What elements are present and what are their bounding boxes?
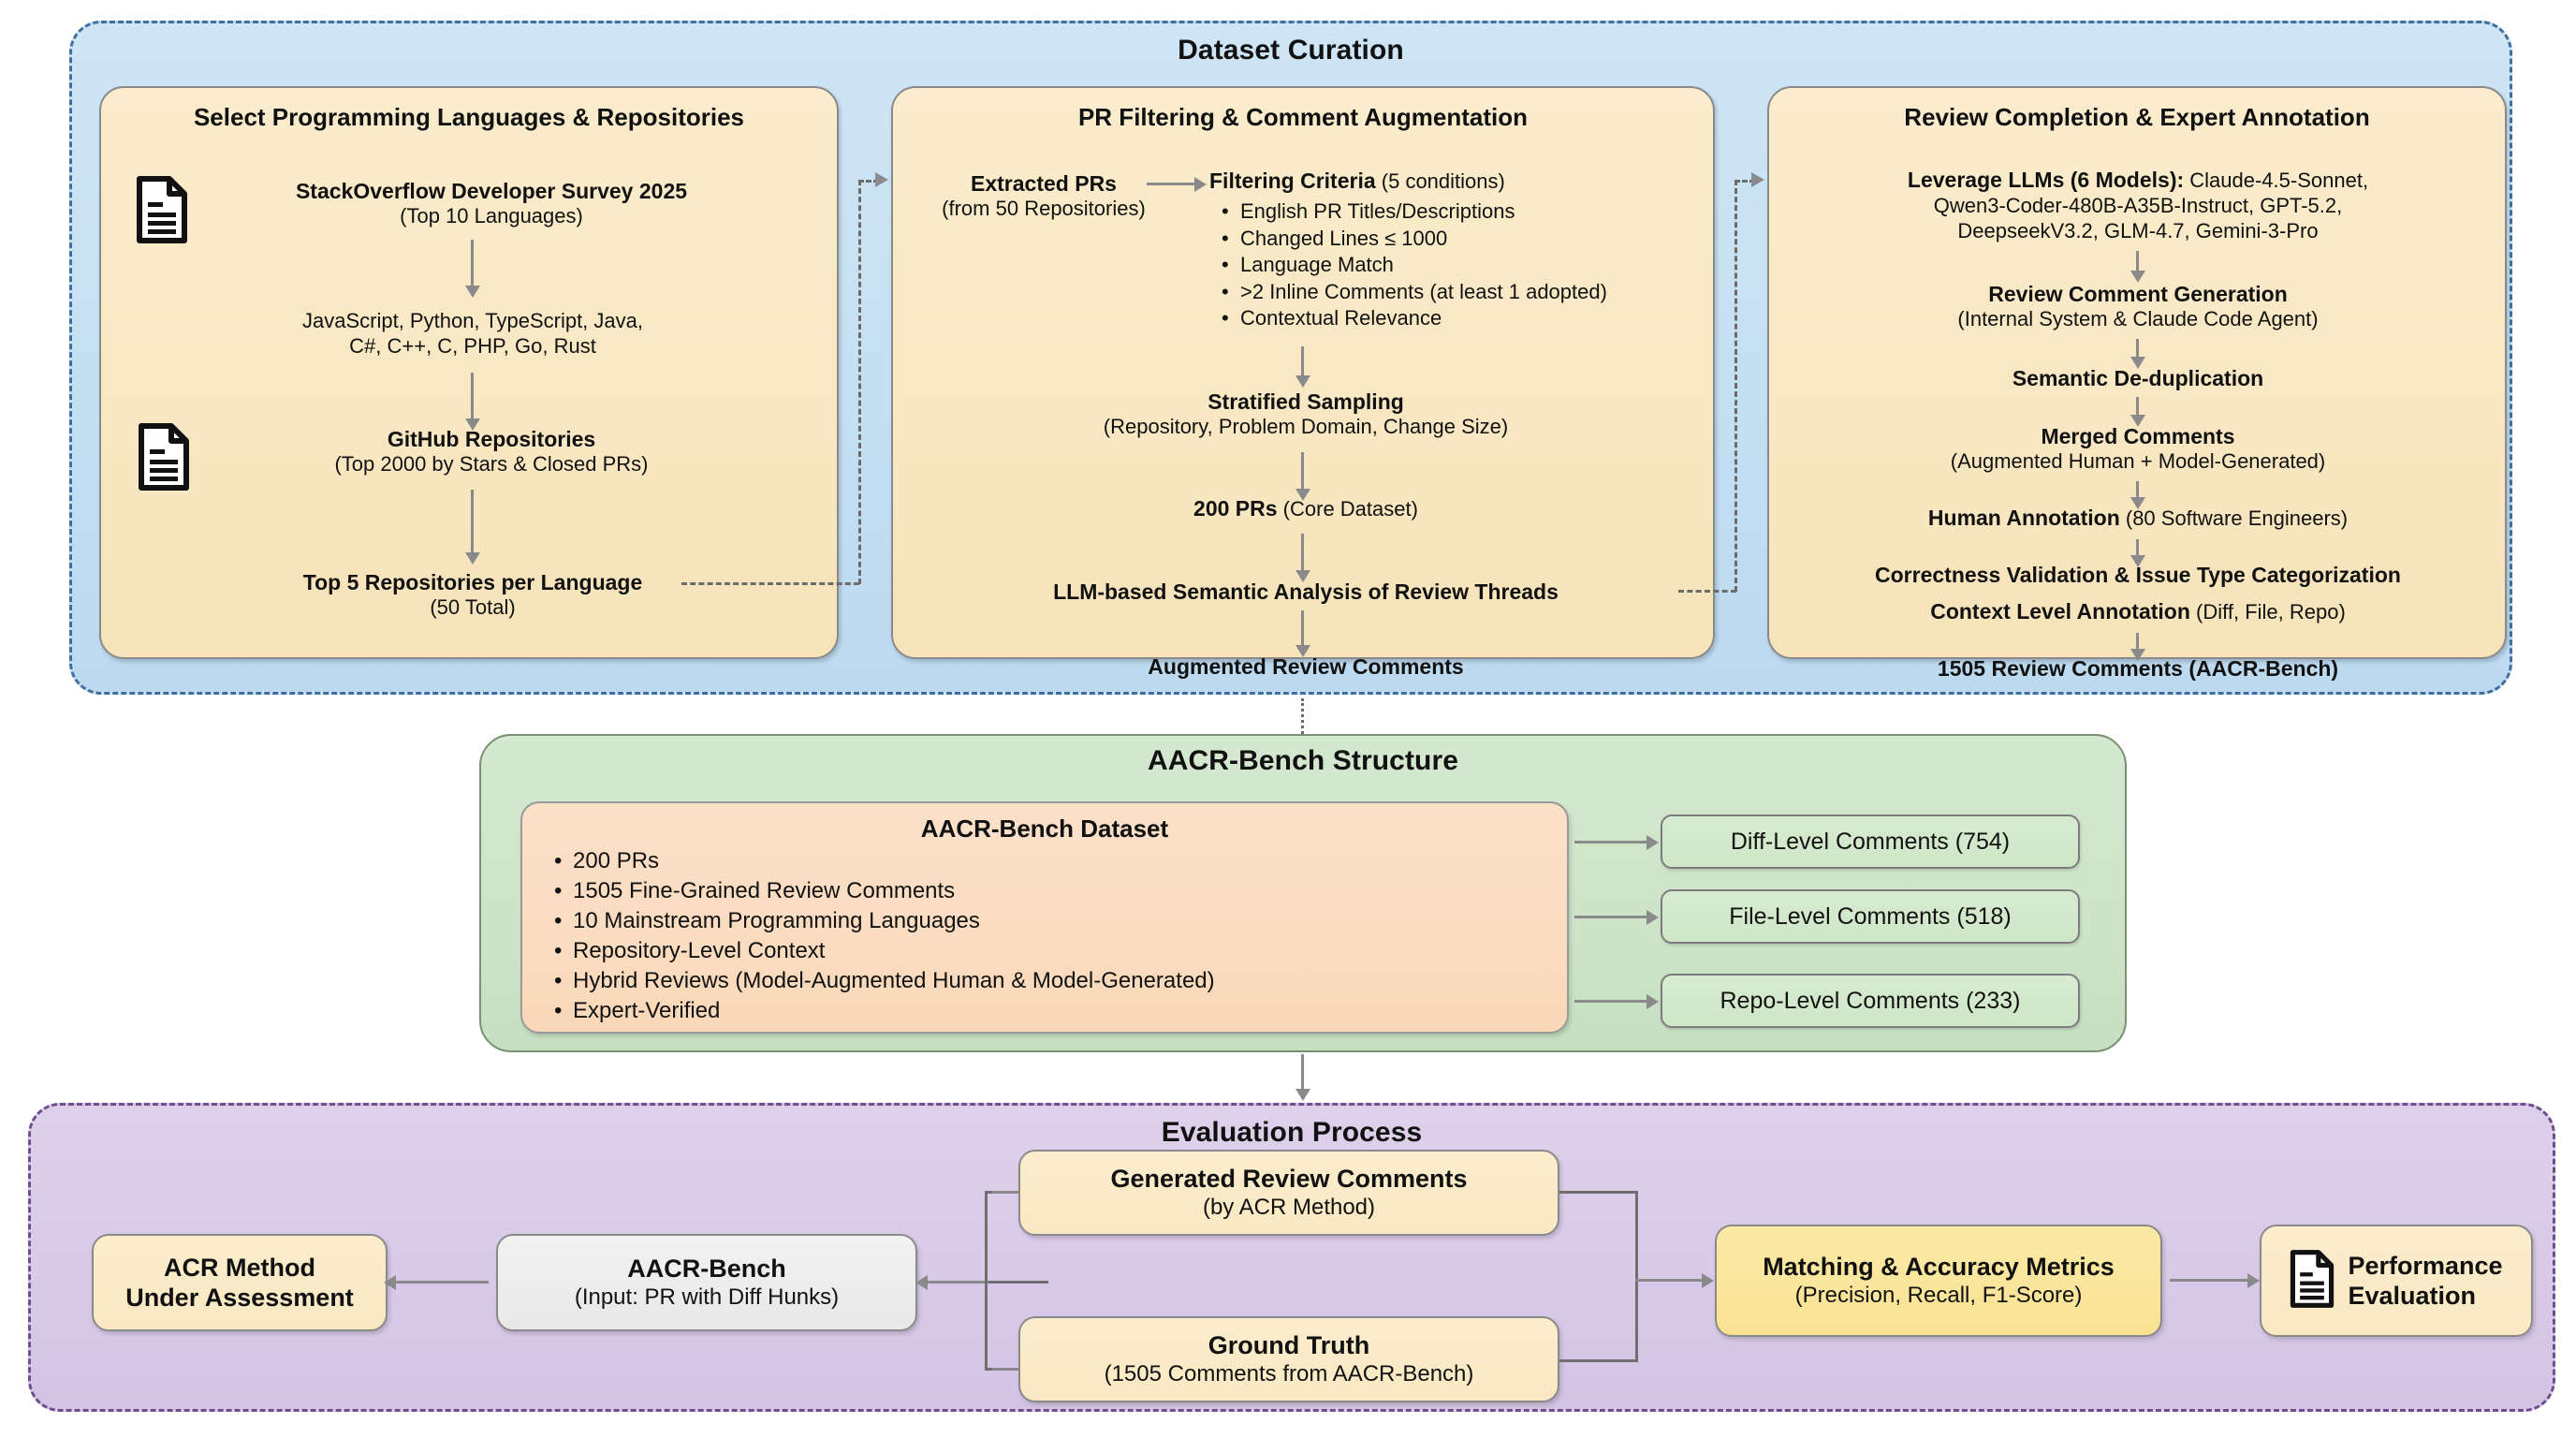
box-aacr-bench-input: AACR-Bench (Input: PR with Diff Hunks) [496,1234,917,1331]
arrow-metrics-to-performance [2170,1279,2248,1282]
box-performance-evaluation: Performance Evaluation [2260,1225,2533,1337]
merge-vertical [1635,1191,1638,1362]
connector-panel1-to-panel2-arrowhead [875,172,888,187]
node-leverage-llms-bold: Leverage LLMs (6 Models): [1908,168,2184,192]
node-language-list-line2: C#, C++, C, PHP, Go, Rust [173,334,772,359]
node-merged-comments-line1: Merged Comments [1778,423,2497,449]
node-github-repositories-line1: GitHub Repositories [201,426,782,452]
metrics-line2: (Precision, Recall, F1-Score) [1795,1283,2083,1310]
generated-comments-line1: Generated Review Comments [1110,1164,1467,1194]
arrow-semantic-to-augmented [1301,610,1304,646]
node-leverage-llms-models1: Claude-4.5-Sonnet, [2184,169,2368,192]
arrow-dataset-to-diff-level [1574,841,1647,844]
node-context-level-annotation: Context Level Annotation (Diff, File, Re… [1778,599,2497,624]
bench-input-line1: AACR-Bench [627,1254,786,1284]
box-file-level-comments: File-Level Comments (518) [1661,889,2080,944]
acr-method-line2: Under Assessment [125,1283,354,1313]
aacr-bench-dataset-title: AACR-Bench Dataset [522,814,1567,844]
aacr-bench-dataset-bullets: 200 PRs 1505 Fine-Grained Review Comment… [554,846,1215,1025]
panel3-title: Review Completion & Expert Annotation [1769,103,2505,132]
node-language-list-line1: JavaScript, Python, TypeScript, Java, [173,309,772,334]
node-human-annotation-bold: Human Annotation [1928,506,2120,530]
section-title-dataset-curation: Dataset Curation [72,35,2510,66]
node-github-repositories: GitHub Repositories (Top 2000 by Stars &… [201,426,782,477]
box-matching-accuracy-metrics: Matching & Accuracy Metrics (Precision, … [1715,1225,2162,1337]
node-filtering-criteria-heading: Filtering Criteria (5 conditions) [1209,169,1505,194]
node-github-repositories-line2: (Top 2000 by Stars & Closed PRs) [201,452,782,477]
filtering-criteria-list: English PR Titles/Descriptions Changed L… [1222,198,1607,332]
section-title-structure: AACR-Bench Structure [481,745,2125,777]
node-200-prs-bold: 200 PRs [1193,496,1278,521]
connector-structure-to-evaluation [1301,1054,1304,1090]
panel2-title: PR Filtering & Comment Augmentation [893,103,1713,132]
node-review-comment-generation: Review Comment Generation (Internal Syst… [1778,281,2497,332]
box-acr-method-under-assessment: ACR Method Under Assessment [92,1234,388,1331]
node-stackoverflow-survey-line1: StackOverflow Developer Survey 2025 [201,178,782,204]
list-item: English PR Titles/Descriptions [1222,198,1607,226]
node-stratified-sampling-line1: Stratified Sampling [936,389,1676,415]
arrow-dedup-to-merged [2136,397,2139,416]
arrow-dataset-to-repo-level [1574,1000,1647,1003]
connector-panel1-to-panel2-horizontal [681,582,859,585]
list-item: Repository-Level Context [554,936,1215,966]
arrow-llms-to-generation [2136,251,2139,271]
node-language-list: JavaScript, Python, TypeScript, Java, C#… [173,309,772,359]
list-item: Expert-Verified [554,996,1215,1026]
performance-line2: Evaluation [2348,1281,2476,1311]
bracket-line-to-bench [985,1281,1048,1284]
list-item: >2 Inline Comments (at least 1 adopted) [1222,279,1607,306]
arrow-human-to-correctness [2136,539,2139,556]
node-leverage-llms: Leverage LLMs (6 Models): Claude-4.5-Son… [1778,167,2497,243]
node-top5-repositories-line2: (50 Total) [173,595,772,621]
arrow-criteria-to-sampling [1301,346,1304,376]
arrow-extracted-to-criteria [1147,183,1195,185]
box-ground-truth: Ground Truth (1505 Comments from AACR-Be… [1018,1316,1559,1402]
document-icon [136,176,188,248]
ground-truth-line1: Ground Truth [1208,1330,1369,1360]
node-stratified-sampling: Stratified Sampling (Repository, Problem… [936,389,1676,440]
connector-curation-to-structure [1301,698,1304,734]
node-stackoverflow-survey-line2: (Top 10 Languages) [201,204,782,229]
metrics-line1: Matching & Accuracy Metrics [1763,1252,2115,1282]
filtering-criteria-note: (5 conditions) [1376,169,1505,193]
arrow-merged-to-human [2136,481,2139,498]
node-review-comment-generation-line2: (Internal System & Claude Code Agent) [1778,307,2497,332]
arrow-survey-to-languages [471,240,474,286]
arrow-bracket-to-bench [927,1281,988,1284]
node-extracted-prs-line2: (from 50 Repositories) [913,197,1175,222]
bench-input-line2: (Input: PR with Diff Hunks) [575,1284,839,1312]
node-correctness-validation: Correctness Validation & Issue Type Cate… [1769,562,2507,588]
merge-line-top [1559,1191,1638,1194]
node-llm-semantic-analysis: LLM-based Semantic Analysis of Review Th… [936,579,1676,605]
panel1-title: Select Programming Languages & Repositor… [101,103,837,132]
list-item: Contextual Relevance [1222,305,1607,332]
arrow-merge-to-metrics [1635,1279,1703,1282]
node-extracted-prs: Extracted PRs (from 50 Repositories) [913,170,1175,222]
list-item: Language Match [1222,252,1607,279]
arrow-bench-to-acr-method [395,1281,489,1284]
arrow-dataset-to-file-level [1574,916,1647,918]
node-context-level-annotation-note: (Diff, File, Repo) [2190,600,2346,624]
node-top5-repositories: Top 5 Repositories per Language (50 Tota… [173,569,772,621]
node-200-prs: 200 PRs (Core Dataset) [936,496,1676,521]
node-stratified-sampling-line2: (Repository, Problem Domain, Change Size… [936,415,1676,440]
list-item: Hybrid Reviews (Model-Augmented Human & … [554,966,1215,996]
connector-panel2-to-panel3-vertical [1734,180,1737,592]
arrow-languages-to-repos [471,373,474,419]
node-merged-comments: Merged Comments (Augmented Human + Model… [1778,423,2497,475]
merge-line-bottom [1559,1359,1638,1362]
connector-panel2-to-panel3-horizontal [1678,590,1736,593]
arrow-sampling-to-core [1301,452,1304,490]
node-context-level-annotation-bold: Context Level Annotation [1930,599,2190,624]
document-icon [2290,1250,2334,1313]
node-leverage-llms-models2: Qwen3-Coder-480B-A35B-Instruct, GPT-5.2, [1778,194,2497,219]
generated-comments-line2: (by ACR Method) [1203,1195,1375,1222]
bracket-vertical-left [985,1191,988,1371]
box-generated-review-comments: Generated Review Comments (by ACR Method… [1018,1150,1559,1236]
node-leverage-llms-models3: DeepseekV3.2, GLM-4.7, Gemini-3-Pro [1778,219,2497,244]
arrow-repos-to-top5 [471,490,474,553]
node-1505-review-comments: 1505 Review Comments (AACR-Bench) [1778,655,2497,682]
filtering-criteria-bold: Filtering Criteria [1209,169,1376,193]
arrow-core-to-semantic [1301,534,1304,571]
connector-panel1-to-panel2-vertical [858,180,861,584]
document-icon [138,423,190,495]
list-item: 1505 Fine-Grained Review Comments [554,876,1215,906]
node-human-annotation: Human Annotation (80 Software Engineers) [1778,506,2497,531]
section-title-evaluation: Evaluation Process [31,1117,2553,1149]
node-human-annotation-note: (80 Software Engineers) [2120,506,2348,530]
node-extracted-prs-line1: Extracted PRs [913,170,1175,197]
node-review-comment-generation-line1: Review Comment Generation [1778,281,2497,307]
node-stackoverflow-survey: StackOverflow Developer Survey 2025 (Top… [201,178,782,229]
list-item: 10 Mainstream Programming Languages [554,906,1215,936]
box-repo-level-comments: Repo-Level Comments (233) [1661,974,2080,1028]
arrow-context-to-final [2136,633,2139,650]
node-semantic-deduplication: Semantic De-duplication [1778,365,2497,391]
node-merged-comments-line2: (Augmented Human + Model-Generated) [1778,449,2497,475]
arrow-generation-to-dedup [2136,339,2139,358]
acr-method-line1: ACR Method [164,1253,315,1283]
performance-line1: Performance [2348,1251,2502,1281]
connector-panel2-to-panel3-arrowhead [1751,172,1764,187]
list-item: 200 PRs [554,846,1215,876]
node-augmented-review-comments: Augmented Review Comments [936,653,1676,680]
list-item: Changed Lines ≤ 1000 [1222,226,1607,253]
node-200-prs-note: (Core Dataset) [1278,497,1418,521]
ground-truth-line2: (1505 Comments from AACR-Bench) [1105,1361,1474,1388]
box-diff-level-comments: Diff-Level Comments (754) [1661,814,2080,869]
